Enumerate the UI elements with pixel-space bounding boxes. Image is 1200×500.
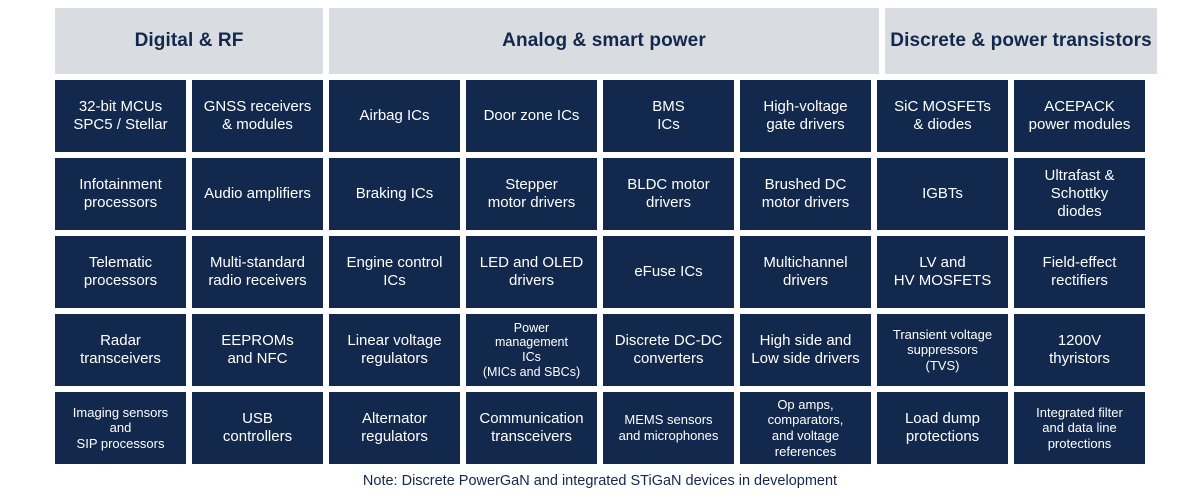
product-cell-label: eFuse ICs (634, 263, 702, 281)
product-cell[interactable]: Braking ICs (329, 158, 460, 230)
product-cell[interactable]: Stepper motor drivers (466, 158, 597, 230)
product-cell-label: LV and HV MOSFETS (894, 254, 992, 291)
product-cell-label: Transient voltage suppressors (TVS) (893, 327, 992, 374)
group-header-label: Discrete & power transistors (890, 29, 1152, 53)
product-cell[interactable]: SiC MOSFETs & diodes (877, 80, 1008, 152)
group-header-label: Analog & smart power (502, 29, 706, 53)
product-cell-label: GNSS receivers & modules (204, 98, 312, 135)
product-cell[interactable]: 1200V thyristors (1014, 314, 1145, 386)
product-cell-label: Radar transceivers (80, 332, 161, 369)
product-cell-label: High-voltage gate drivers (763, 98, 847, 135)
product-cell-label: EEPROMs and NFC (221, 332, 294, 369)
product-cell-label: BMS ICs (652, 98, 685, 135)
product-cell[interactable]: Audio amplifiers (192, 158, 323, 230)
product-cell[interactable]: eFuse ICs (603, 236, 734, 308)
product-cell-label: Door zone ICs (484, 107, 580, 125)
product-cell-label: Ultrafast & Schottky diodes (1044, 167, 1114, 222)
product-cell[interactable]: ACEPACK power modules (1014, 80, 1145, 152)
group-header-label: Digital & RF (135, 29, 244, 53)
product-cell-label: BLDC motor drivers (627, 176, 710, 213)
product-cell[interactable]: 32-bit MCUs SPC5 / Stellar (55, 80, 186, 152)
product-cell-label: Telematic processors (84, 254, 157, 291)
product-cell[interactable]: LV and HV MOSFETS (877, 236, 1008, 308)
product-cell[interactable]: Engine control ICs (329, 236, 460, 308)
product-cell-label: Braking ICs (356, 185, 434, 203)
product-cell[interactable]: USB controllers (192, 392, 323, 464)
product-cell[interactable]: Radar transceivers (55, 314, 186, 386)
product-cell-label: SiC MOSFETs & diodes (894, 98, 991, 135)
group-header-digital-rf: Digital & RF (55, 8, 323, 74)
product-cell-label: Infotainment processors (79, 176, 162, 213)
product-cell[interactable]: Op amps, comparators, and voltage refere… (740, 392, 871, 464)
product-cell-label: Stepper motor drivers (488, 176, 576, 213)
product-cell[interactable]: LED and OLED drivers (466, 236, 597, 308)
group-header-row: Digital & RF Analog & smart power Discre… (55, 8, 1145, 74)
product-cell[interactable]: Telematic processors (55, 236, 186, 308)
product-cell[interactable]: Imaging sensors and SIP processors (55, 392, 186, 464)
product-cell[interactable]: EEPROMs and NFC (192, 314, 323, 386)
footnote: Note: Discrete PowerGaN and integrated S… (55, 464, 1145, 489)
product-cell[interactable]: Linear voltage regulators (329, 314, 460, 386)
product-cell-label: 32-bit MCUs SPC5 / Stellar (73, 98, 167, 135)
product-cell-label: Multi-standard radio receivers (208, 254, 306, 291)
product-cell[interactable]: MEMS sensors and microphones (603, 392, 734, 464)
product-cell[interactable]: Communication transceivers (466, 392, 597, 464)
product-cell-label: Load dump protections (905, 410, 980, 447)
product-cell-label: USB controllers (223, 410, 292, 447)
product-cell[interactable]: BMS ICs (603, 80, 734, 152)
product-cell-label: Multichannel drivers (763, 254, 847, 291)
product-portfolio-matrix: Digital & RF Analog & smart power Discre… (0, 0, 1200, 500)
group-header-analog-smart-power: Analog & smart power (329, 8, 879, 74)
group-header-discrete-power-transistors: Discrete & power transistors (885, 8, 1157, 74)
product-cell[interactable]: Discrete DC-DC converters (603, 314, 734, 386)
product-cell-label: Integrated filter and data line protecti… (1036, 405, 1123, 452)
product-cell-label: 1200V thyristors (1049, 332, 1110, 369)
product-cell[interactable]: GNSS receivers & modules (192, 80, 323, 152)
product-cell[interactable]: Field-effect rectifiers (1014, 236, 1145, 308)
product-cell-label: ACEPACK power modules (1029, 98, 1131, 135)
product-cell[interactable]: BLDC motor drivers (603, 158, 734, 230)
product-cell[interactable]: Ultrafast & Schottky diodes (1014, 158, 1145, 230)
product-cell-label: Op amps, comparators, and voltage refere… (768, 397, 844, 459)
product-cell-label: IGBTs (922, 185, 963, 203)
product-cell-label: Engine control ICs (347, 254, 443, 291)
product-cell-label: Brushed DC motor drivers (762, 176, 850, 213)
product-cell[interactable]: Brushed DC motor drivers (740, 158, 871, 230)
product-cell[interactable]: Multichannel drivers (740, 236, 871, 308)
product-cell-label: Imaging sensors and SIP processors (73, 405, 168, 452)
product-cell[interactable]: High-voltage gate drivers (740, 80, 871, 152)
product-cell[interactable]: Power management ICs (MICs and SBCs) (466, 314, 597, 386)
product-cell[interactable]: Multi-standard radio receivers (192, 236, 323, 308)
product-cell-label: Audio amplifiers (204, 185, 311, 203)
product-cell-label: Communication transceivers (479, 410, 583, 447)
product-cell[interactable]: Transient voltage suppressors (TVS) (877, 314, 1008, 386)
product-cell-label: Power management ICs (MICs and SBCs) (483, 321, 580, 380)
product-cell-label: Field-effect rectifiers (1043, 254, 1117, 291)
product-cell-label: Linear voltage regulators (347, 332, 441, 369)
product-cell[interactable]: IGBTs (877, 158, 1008, 230)
product-cell[interactable]: High side and Low side drivers (740, 314, 871, 386)
product-cell[interactable]: Door zone ICs (466, 80, 597, 152)
product-cell[interactable]: Alternator regulators (329, 392, 460, 464)
product-cell-label: Airbag ICs (359, 107, 429, 125)
product-cell[interactable]: Load dump protections (877, 392, 1008, 464)
product-cell[interactable]: Airbag ICs (329, 80, 460, 152)
product-cell[interactable]: Infotainment processors (55, 158, 186, 230)
product-cell-label: MEMS sensors and microphones (619, 412, 719, 443)
product-cell-label: High side and Low side drivers (751, 332, 859, 369)
product-cell[interactable]: Integrated filter and data line protecti… (1014, 392, 1145, 464)
product-cell-label: Alternator regulators (361, 410, 428, 447)
product-cell-grid: 32-bit MCUs SPC5 / StellarGNSS receivers… (55, 80, 1145, 464)
product-cell-label: LED and OLED drivers (480, 254, 583, 291)
product-cell-label: Discrete DC-DC converters (615, 332, 723, 369)
